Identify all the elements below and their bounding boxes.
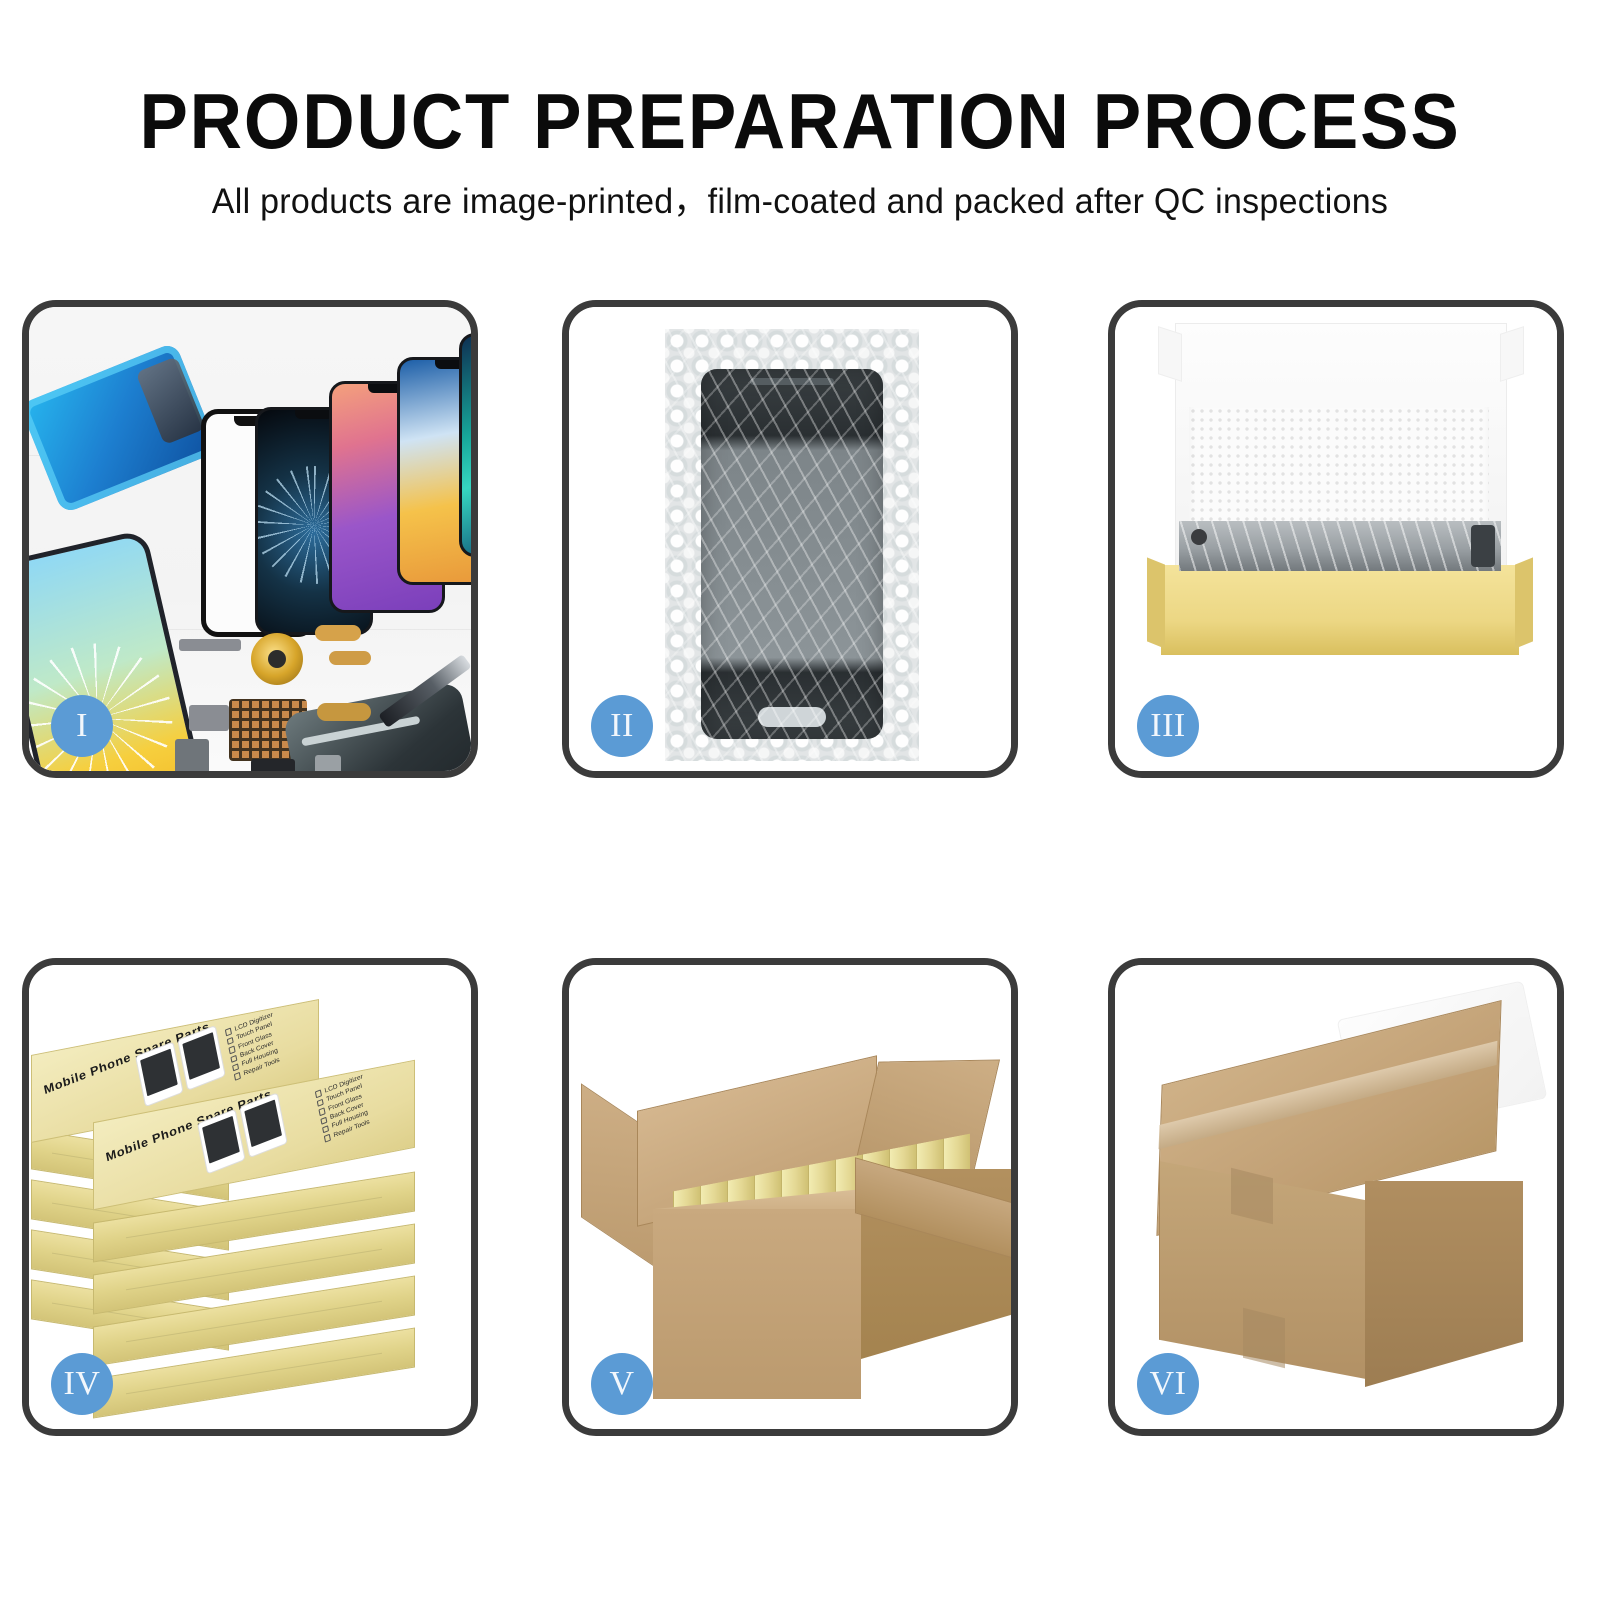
process-row-top: I II III — [0, 300, 1600, 786]
phone-display-teal — [459, 333, 471, 557]
wrapped-screen-assembly — [701, 369, 883, 739]
step-badge-4: IV — [51, 1353, 113, 1415]
wrapped-screen-in-box — [1179, 521, 1501, 571]
adhesive-frame-part — [29, 342, 219, 514]
page-subtitle: All products are image-printed，film-coat… — [24, 184, 1576, 219]
page-header: PRODUCT PREPARATION PROCESS All products… — [0, 0, 1600, 219]
step-badge-1: I — [51, 695, 113, 757]
step-card-2[interactable]: II — [562, 300, 1018, 778]
mailer-box-tray — [1161, 565, 1519, 655]
process-grid: I II III — [0, 300, 1600, 1444]
process-row-bottom: Mobile Phone Spare Parts LCD Digitizer T… — [0, 958, 1600, 1444]
step-card-4[interactable]: Mobile Phone Spare Parts LCD Digitizer T… — [22, 958, 478, 1436]
step-badge-3: III — [1137, 695, 1199, 757]
step-card-1[interactable]: I — [22, 300, 478, 778]
page-title: PRODUCT PREPARATION PROCESS — [56, 82, 1544, 160]
carton-seam-tab-lower — [1243, 1308, 1285, 1368]
sealed-carton-right-panel — [1365, 1181, 1523, 1387]
step-card-5[interactable]: V — [562, 958, 1018, 1436]
retail-box-checklist-2: LCD Digitizer Touch Panel Front Glass Ba… — [315, 1053, 422, 1143]
wireless-charging-coil-part — [251, 633, 303, 685]
step-badge-6: VI — [1137, 1353, 1199, 1415]
step-card-3[interactable]: III — [1108, 300, 1564, 778]
step-badge-2: II — [591, 695, 653, 757]
retail-box-checklist-1: LCD Digitizer Touch Panel Front Glass Ba… — [225, 991, 332, 1081]
step-badge-5: V — [591, 1353, 653, 1415]
carton-front-panel — [653, 1209, 861, 1399]
step-card-6[interactable]: VI — [1108, 958, 1564, 1436]
bubble-wrap-sheet — [665, 329, 919, 761]
phone-backplate-part — [282, 681, 471, 771]
